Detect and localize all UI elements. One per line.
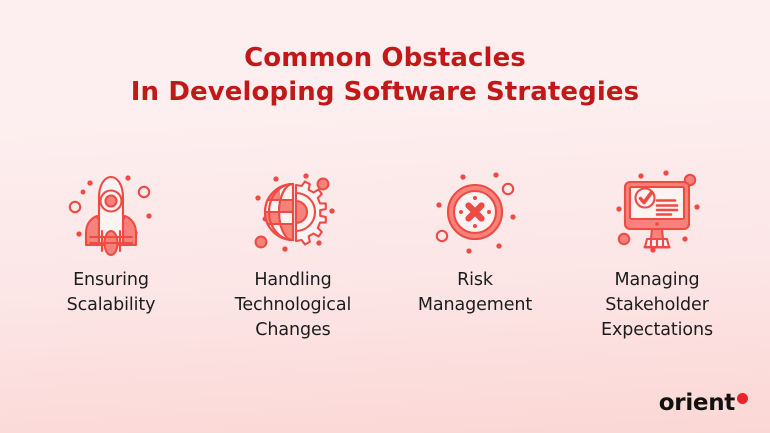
obstacle-item-handling-technological-changes: Handling Technological Changes [202, 166, 384, 343]
monitor-check-icon [609, 166, 705, 258]
page-title: Common Obstacles In Developing Software … [0, 41, 770, 109]
obstacle-label: Managing Stakeholder Expectations [601, 268, 713, 343]
obstacle-item-risk-management: Risk Management [384, 166, 566, 318]
title-line-2: In Developing Software Strategies [0, 75, 770, 109]
obstacle-item-managing-stakeholder-expectations: Managing Stakeholder Expectations [566, 166, 748, 343]
orient-logo[interactable]: orient [659, 392, 748, 415]
error-circle-x-icon [427, 166, 523, 258]
slide-canvas: Common Obstacles In Developing Software … [0, 0, 770, 433]
globe-gear-icon [245, 166, 341, 258]
obstacle-label: Risk Management [418, 268, 532, 318]
logo-dot-icon [737, 393, 748, 404]
logo-wordmark: orient [659, 392, 735, 415]
obstacle-list: Ensuring Scalability [20, 166, 750, 343]
rocket-icon [63, 166, 159, 258]
obstacle-item-ensuring-scalability: Ensuring Scalability [20, 166, 202, 318]
obstacle-label: Handling Technological Changes [235, 268, 351, 343]
obstacle-label: Ensuring Scalability [67, 268, 156, 318]
title-line-1: Common Obstacles [0, 41, 770, 75]
